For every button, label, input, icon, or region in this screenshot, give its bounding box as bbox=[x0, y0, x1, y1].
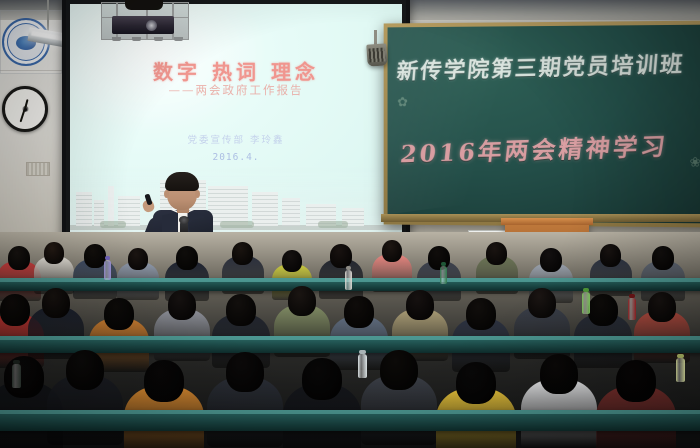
bottle-cap bbox=[441, 262, 446, 266]
audience-member-head bbox=[652, 246, 674, 270]
audience-member-head bbox=[4, 356, 44, 398]
microphone-head-icon bbox=[179, 216, 189, 224]
lecture-hall-photo: 数字 热词 理念 ——两会政府工作报告 党委宣传部 李玲鑫 2016.4. bbox=[0, 0, 700, 448]
audience-member-head bbox=[406, 290, 434, 320]
wall-clock bbox=[2, 86, 48, 132]
audience-member-head bbox=[176, 246, 198, 270]
audience-member-head bbox=[232, 242, 253, 265]
blackboard-frame: ✿ ❀ 新传学院第三期党员培训班 2016年两会精神学习 bbox=[384, 20, 700, 227]
audience-member-head bbox=[226, 352, 264, 392]
blackboard: ✿ ❀ 新传学院第三期党员培训班 2016年两会精神学习 bbox=[388, 25, 700, 224]
presenter-hair bbox=[165, 172, 199, 191]
audience-member-head bbox=[282, 250, 302, 272]
bottle-cap bbox=[105, 256, 110, 260]
audience-member-head bbox=[128, 248, 148, 270]
water-bottle bbox=[628, 298, 636, 320]
water-bottle bbox=[12, 364, 21, 388]
audience-member-head bbox=[84, 244, 106, 268]
audience-member-head bbox=[288, 286, 316, 316]
water-bottle bbox=[345, 270, 352, 290]
ceiling-projector bbox=[112, 16, 174, 34]
audience bbox=[0, 232, 700, 448]
audience-member-head bbox=[0, 294, 30, 326]
bottle-cap bbox=[583, 288, 589, 292]
projector-mount bbox=[125, 0, 163, 10]
audience-member-head bbox=[8, 246, 30, 270]
audience-member-head bbox=[380, 350, 418, 390]
podium-top bbox=[501, 218, 593, 225]
audience-member-head bbox=[600, 244, 621, 267]
audience-member-head bbox=[466, 298, 496, 330]
audience-member-head bbox=[44, 242, 64, 264]
audience-member-head bbox=[528, 288, 556, 318]
chalk-flower-icon: ✿ bbox=[397, 94, 408, 110]
audience-member-head bbox=[648, 292, 676, 322]
slide-date: 2016.4. bbox=[70, 152, 402, 163]
bottle-cap bbox=[13, 360, 20, 364]
audience-member-head bbox=[330, 244, 352, 268]
audience-member-head bbox=[302, 358, 342, 400]
water-bottle bbox=[104, 260, 111, 280]
slide-title: 数字 热词 理念 bbox=[70, 56, 402, 85]
light-hanger-rod bbox=[47, 0, 49, 34]
slide-author: 党委宣传部 李玲鑫 bbox=[70, 132, 402, 146]
water-bottle bbox=[582, 292, 590, 314]
audience-member-head bbox=[66, 350, 104, 390]
water-bottle bbox=[676, 358, 685, 382]
audience-member-head bbox=[428, 246, 450, 270]
audience-member-head bbox=[344, 296, 374, 328]
audience-member-head bbox=[486, 242, 507, 265]
water-bottle bbox=[440, 266, 447, 284]
water-bottle bbox=[358, 354, 367, 378]
speaker-grille-icon bbox=[369, 47, 386, 62]
bottle-cap bbox=[359, 350, 366, 354]
audience-member-head bbox=[382, 240, 402, 262]
bottle-cap bbox=[346, 266, 351, 270]
audience-member-head bbox=[540, 354, 578, 394]
audience-member-head bbox=[42, 288, 70, 318]
wall-vent bbox=[26, 162, 50, 176]
audience-member-head bbox=[144, 360, 184, 402]
desk-edge bbox=[0, 336, 700, 340]
bottle-cap bbox=[629, 294, 635, 298]
audience-member-head bbox=[104, 298, 134, 330]
audience-member-head bbox=[456, 362, 496, 404]
audience-member-head bbox=[168, 290, 196, 320]
audience-member-head bbox=[588, 294, 618, 326]
audience-member-head bbox=[540, 248, 562, 272]
slide-subtitle: ——两会政府工作报告 bbox=[70, 82, 402, 98]
audience-member-head bbox=[616, 360, 656, 402]
projector-lens-icon bbox=[146, 20, 157, 31]
desk-edge bbox=[0, 410, 700, 414]
bottle-cap bbox=[677, 354, 684, 358]
audience-member-head bbox=[226, 294, 256, 326]
